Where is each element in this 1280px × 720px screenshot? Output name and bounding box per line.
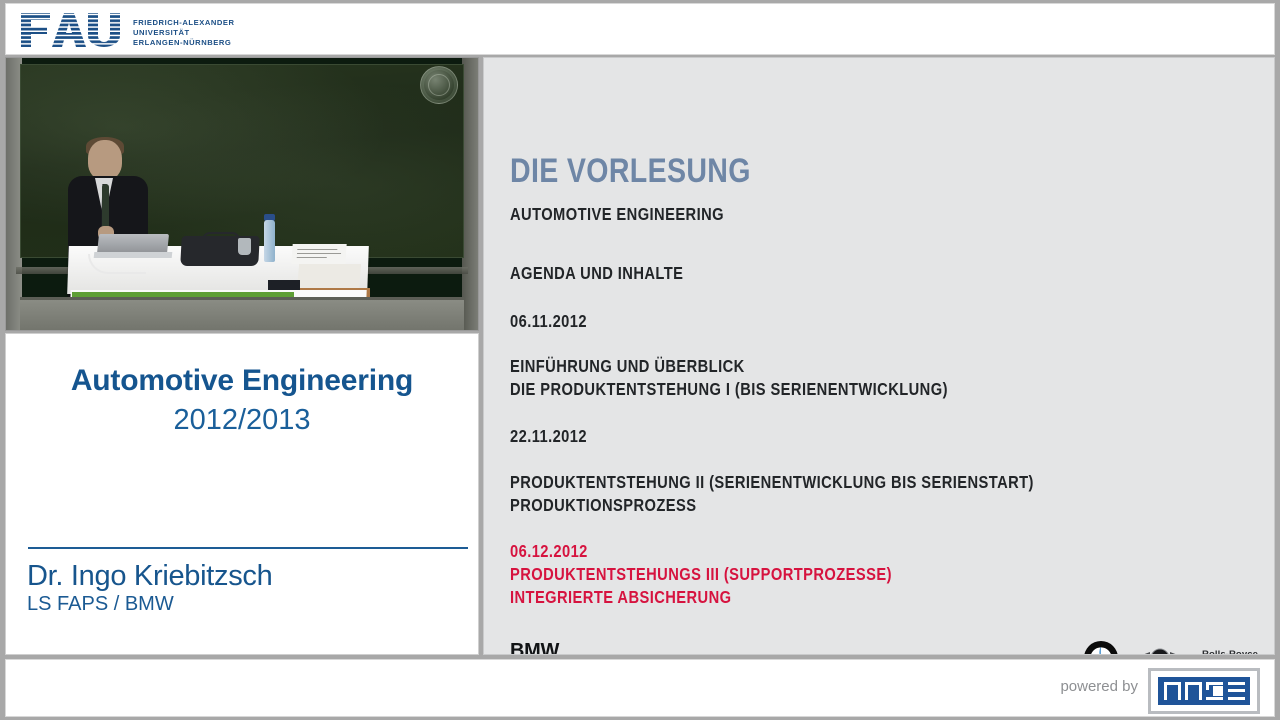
- agenda-topic-2-line-2: PRODUKTIONSPROZESS: [510, 495, 696, 516]
- microphone-icon: [102, 184, 109, 232]
- lecturer-head: [88, 140, 122, 180]
- agenda-topic-3-line-1: PRODUKTENTSTEHUNGS III (SUPPORTPROZESSE): [510, 564, 892, 585]
- floor: [20, 300, 464, 330]
- rrze-logo-mark-icon: [1158, 677, 1250, 705]
- fau-logo-mark-icon: [20, 11, 124, 49]
- presenter-name: Dr. Ingo Kriebitzsch: [27, 560, 272, 593]
- wall-right: [462, 58, 478, 330]
- course-title: Automotive Engineering: [6, 364, 478, 398]
- mini-logo-icon: MINI: [1132, 647, 1188, 654]
- presenter-affiliation: LS FAPS / BMW: [27, 593, 174, 616]
- agenda-topic-2-line-1: PRODUKTENTSTEHUNG II (SERIENENTWICKLUNG …: [510, 472, 1034, 493]
- page-header: FRIEDRICH-ALEXANDER UNIVERSITÄT ERLANGEN…: [6, 4, 1274, 54]
- water-bottle: [264, 220, 275, 262]
- academic-year: 2012/2013: [6, 404, 478, 437]
- agenda-topic-3-line-2: INTEGRIERTE ABSICHERUNG: [510, 587, 731, 608]
- rolls-royce-logo: Rolls-Royce Motor Cars Limited: [1202, 650, 1258, 654]
- slide-section-heading: AGENDA UND INHALTE: [510, 263, 683, 284]
- papers: [291, 244, 346, 264]
- institution-line-2: UNIVERSITÄT: [133, 28, 235, 38]
- institution-line-1: FRIEDRICH-ALEXANDER: [133, 18, 235, 28]
- cable: [88, 254, 146, 274]
- laptop: [97, 234, 169, 254]
- agenda-date-3: 06.12.2012: [510, 541, 588, 562]
- page-footer: powered by: [6, 660, 1274, 716]
- powered-by-label: powered by: [1060, 678, 1138, 695]
- rolls-royce-name: Rolls-Royce: [1202, 650, 1258, 654]
- left-column: Automotive Engineering 2012/2013 Dr. Ing…: [6, 58, 478, 654]
- course-title-card: Automotive Engineering 2012/2013 Dr. Ing…: [6, 334, 478, 654]
- video-player[interactable]: [6, 58, 478, 330]
- agenda-date-1: 06.11.2012: [510, 311, 587, 332]
- fau-logo: FRIEDRICH-ALEXANDER UNIVERSITÄT ERLANGEN…: [20, 11, 235, 49]
- slide-title: DIE VORLESUNG: [510, 152, 751, 191]
- agenda-topic-1-line-1: EINFÜHRUNG UND ÜBERBLICK: [510, 356, 745, 377]
- brand-logo-row: MINI Rolls-Royce Motor Cars Limited: [1084, 641, 1258, 654]
- institution-line-3: ERLANGEN-NÜRNBERG: [133, 38, 235, 48]
- divider-top: [28, 547, 468, 549]
- bmw-group-line-1: BMW: [510, 640, 582, 654]
- slide-pane[interactable]: DIE VORLESUNG AUTOMOTIVE ENGINEERING AGE…: [484, 58, 1274, 654]
- slide-subtitle: AUTOMOTIVE ENGINEERING: [510, 204, 724, 225]
- agenda-date-2: 22.11.2012: [510, 426, 587, 447]
- rrze-logo[interactable]: [1148, 668, 1260, 714]
- agenda-topic-1-line-2: DIE PRODUKTENTSTEHUNG I (BIS SERIENENTWI…: [510, 379, 948, 400]
- player-stage: FRIEDRICH-ALEXANDER UNIVERSITÄT ERLANGEN…: [0, 0, 1280, 720]
- university-seal-watermark-icon: [420, 66, 458, 104]
- drinking-glass: [238, 238, 251, 255]
- bmw-roundel-icon: [1084, 641, 1118, 654]
- fau-institution-name: FRIEDRICH-ALEXANDER UNIVERSITÄT ERLANGEN…: [133, 11, 235, 49]
- paper-stack: [297, 264, 361, 290]
- bmw-group-logo: BMW GROUP: [510, 640, 582, 654]
